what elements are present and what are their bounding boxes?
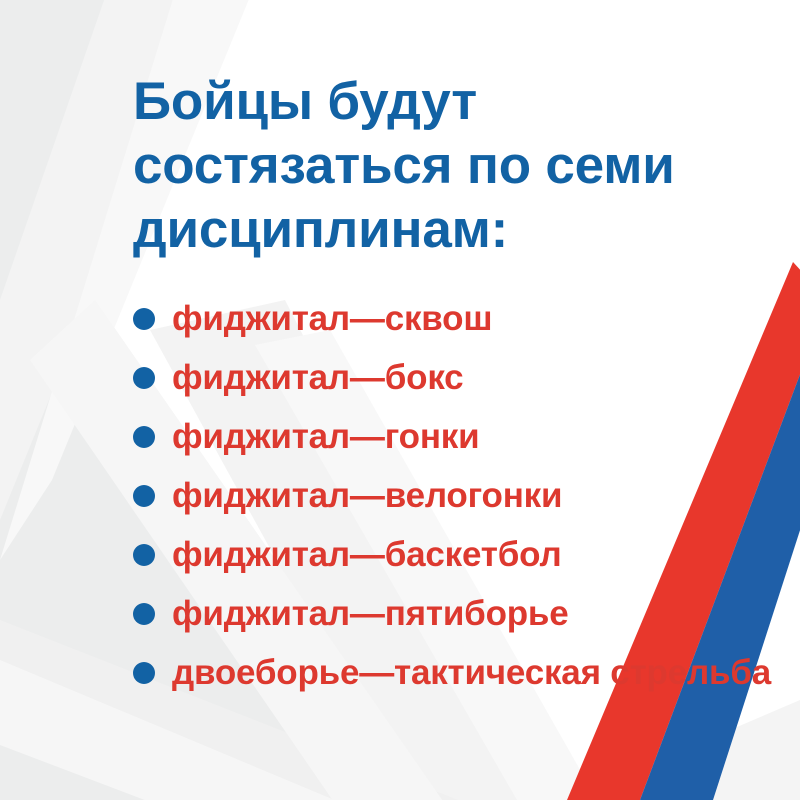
list-item: фиджитал—бокс: [133, 357, 773, 399]
discipline-label: фиджитал—бокс: [172, 357, 773, 399]
list-item: фиджитал—гонки: [133, 416, 773, 458]
discipline-label: фиджитал—велогонки: [172, 475, 773, 517]
discipline-label: фиджитал—пятиборье: [172, 593, 773, 635]
page-title: Бойцы будут состязаться по семи дисципли…: [133, 70, 713, 262]
discipline-list: фиджитал—сквош фиджитал—бокс фиджитал—го…: [133, 298, 773, 711]
bullet-dot-icon: [133, 308, 155, 330]
list-item: фиджитал—баскетбол: [133, 534, 773, 576]
bullet-dot-icon: [133, 426, 155, 448]
list-item: фиджитал—велогонки: [133, 475, 773, 517]
list-item: фиджитал—пятиборье: [133, 593, 773, 635]
discipline-label: фиджитал—сквош: [172, 298, 773, 340]
bullet-dot-icon: [133, 603, 155, 625]
discipline-label: двоеборье—тактическая стрельба: [172, 652, 773, 694]
discipline-label: фиджитал—баскетбол: [172, 534, 773, 576]
list-item: фиджитал—сквош: [133, 298, 773, 340]
bullet-dot-icon: [133, 662, 155, 684]
poster-canvas: Бойцы будут состязаться по семи дисципли…: [0, 0, 800, 800]
poster-content: Бойцы будут состязаться по семи дисципли…: [0, 0, 800, 800]
bullet-dot-icon: [133, 485, 155, 507]
discipline-label: фиджитал—гонки: [172, 416, 773, 458]
bullet-dot-icon: [133, 367, 155, 389]
bullet-dot-icon: [133, 544, 155, 566]
list-item: двоеборье—тактическая стрельба: [133, 652, 773, 694]
